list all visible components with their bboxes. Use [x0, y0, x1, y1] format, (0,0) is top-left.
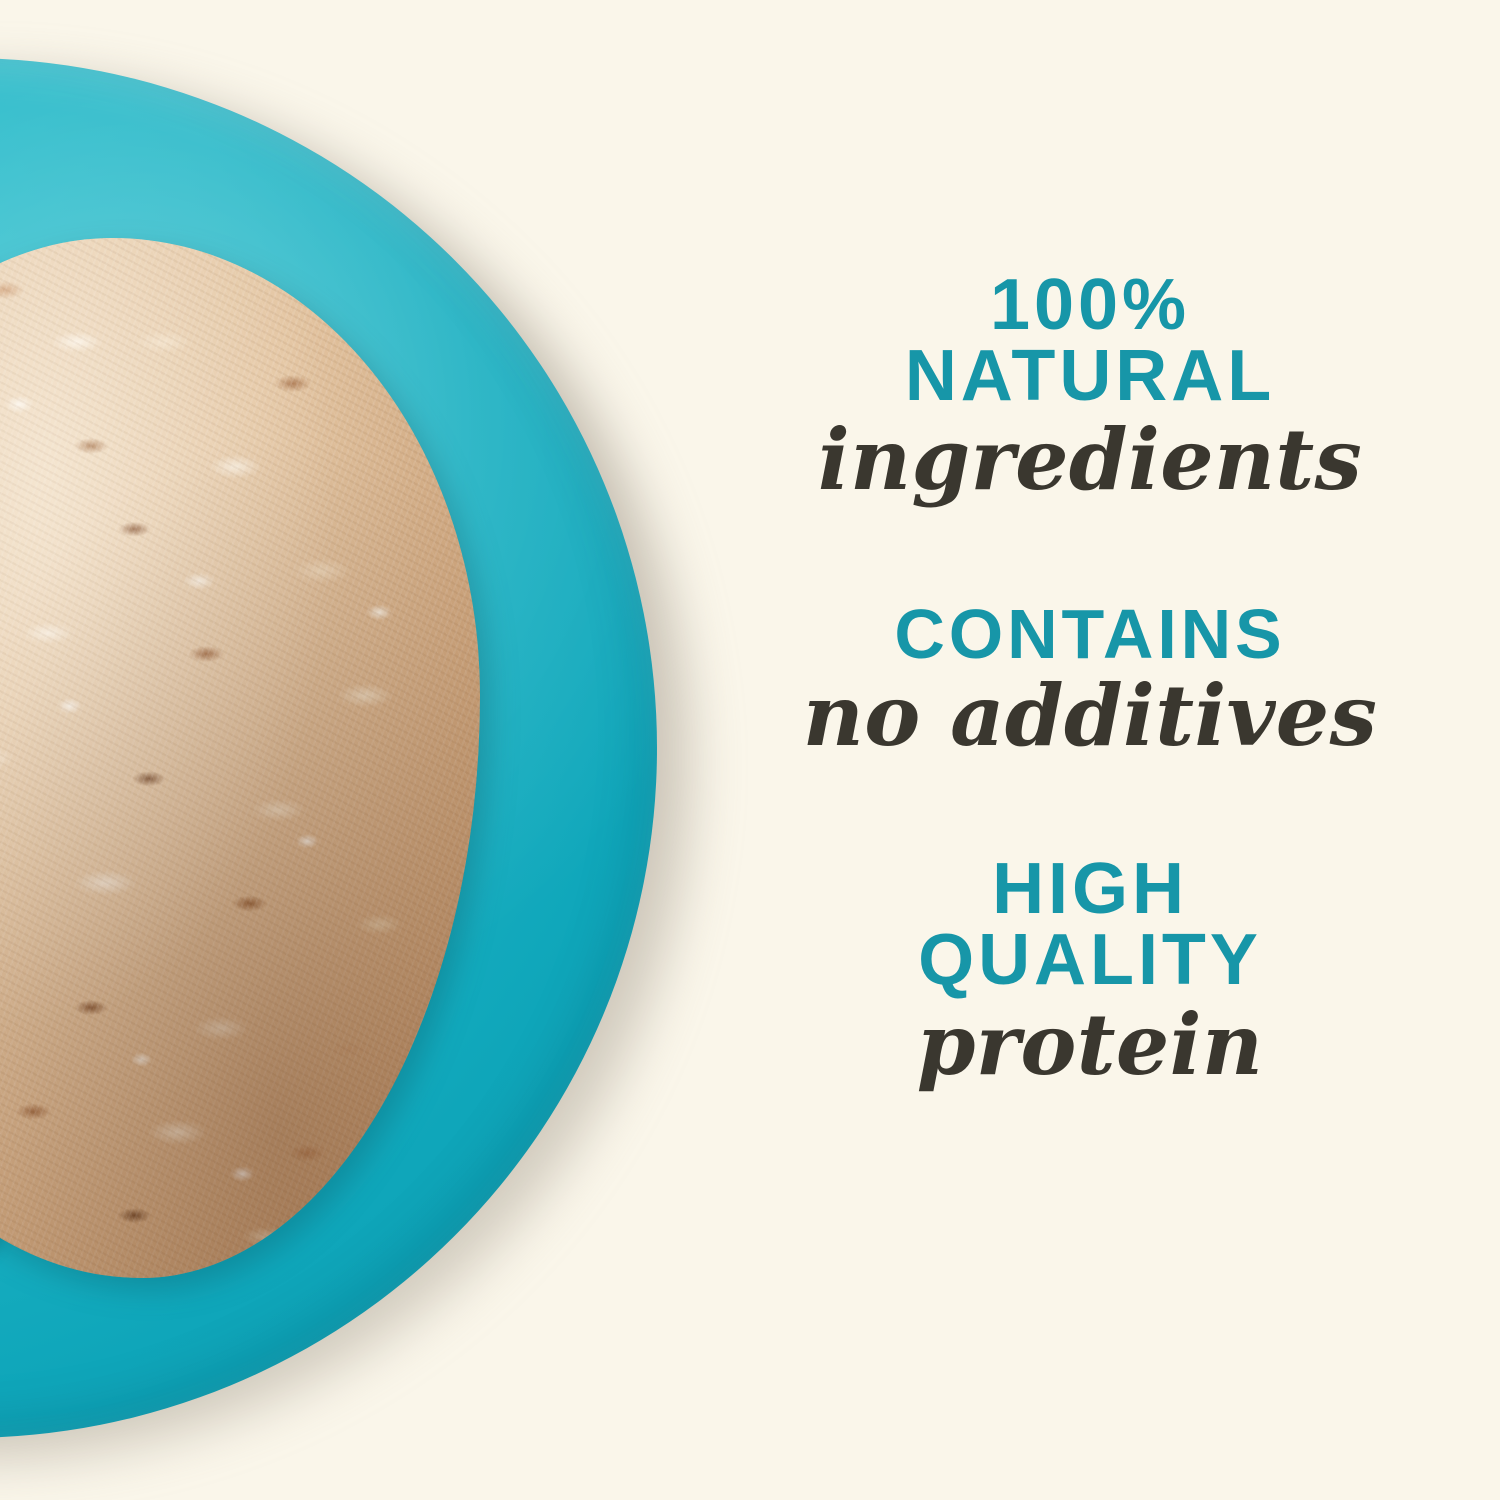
- claim-3-headline: HIGH QUALITY: [760, 854, 1420, 997]
- product-claim-banner: 100% NATURAL ingredients CONTAINS no add…: [0, 0, 1500, 1500]
- claims-list: 100% NATURAL ingredients CONTAINS no add…: [760, 270, 1420, 1089]
- claim-3-headline-line-1: HIGH: [992, 849, 1188, 929]
- claim-no-additives: CONTAINS no additives: [760, 600, 1420, 760]
- food-shading: [0, 238, 480, 1278]
- food-mound: [0, 238, 480, 1278]
- claim-natural-ingredients: 100% NATURAL ingredients: [760, 270, 1420, 504]
- claim-1-headline: 100% NATURAL: [760, 270, 1420, 413]
- claim-1-headline-line-2: NATURAL: [760, 341, 1420, 412]
- claim-2-headline-line-1: CONTAINS: [894, 595, 1285, 673]
- claim-high-quality-protein: HIGH QUALITY protein: [760, 854, 1420, 1090]
- claim-3-script: protein: [760, 1000, 1420, 1089]
- claim-2-script: no additives: [760, 671, 1420, 760]
- food-body: [0, 238, 480, 1278]
- claim-1-headline-line-1: 100%: [990, 265, 1190, 345]
- claim-2-headline: CONTAINS: [760, 600, 1420, 669]
- claim-3-headline-line-2: QUALITY: [760, 925, 1420, 996]
- claim-1-script: ingredients: [760, 415, 1420, 504]
